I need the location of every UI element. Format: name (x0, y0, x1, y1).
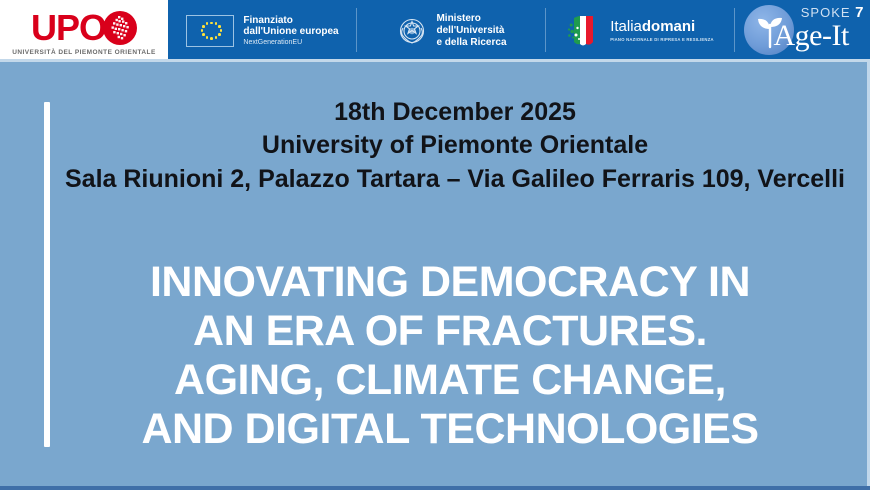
upo-letters: UPO (31, 11, 106, 45)
eu-line-2: dall'Unione europea (243, 26, 338, 38)
event-venue: Sala Riunioni 2, Palazzo Tartara – Via G… (60, 163, 850, 196)
eu-line-3: NextGenerationEU (243, 39, 338, 47)
ministry-line-2: dell'Università (436, 25, 506, 37)
ministry-line-3: e della Ricerca (436, 37, 506, 49)
event-institution: University of Piemonte Orientale (60, 129, 850, 162)
ministry-line-1: Ministero (436, 13, 506, 25)
ageit-spoke-number: 7 (855, 4, 864, 21)
upo-logo: UPO (0, 0, 168, 62)
italiadomani-word-thin: Italia (610, 18, 642, 35)
presentation-slide: UPO (0, 0, 870, 490)
upo-logomark: UPO (31, 9, 137, 47)
italian-republic-emblem-icon (396, 13, 428, 49)
ageit-logo: SPOKE 7 Age-It (735, 0, 870, 62)
title-line-4: AND DIGITAL TECHNOLOGIES (55, 405, 845, 454)
eu-line-1: Finanziato (243, 15, 338, 27)
title-line-2: AN ERA OF FRACTURES. (55, 307, 845, 356)
piemonte-region-icon (110, 16, 132, 40)
italiadomani-logo: Italiadomani PIANO NAZIONALE DI RIPRESA … (546, 0, 735, 62)
title-line-3: AGING, CLIMATE CHANGE, (55, 356, 845, 405)
eu-flag-icon (186, 15, 234, 47)
event-info: 18th December 2025 University of Piemont… (60, 96, 850, 196)
upo-circle-icon (103, 11, 137, 45)
event-date: 18th December 2025 (60, 96, 850, 129)
sponsor-logo-bar: UPO (0, 0, 870, 62)
italiadomani-word-bold: domani (642, 18, 695, 35)
ageit-wordmark: Age-It (774, 21, 849, 51)
upo-subtitle: UNIVERSITÀ DEL PIEMONTE ORIENTALE (12, 49, 156, 56)
italy-flag-icon (567, 14, 603, 48)
event-title: INNOVATING DEMOCRACY IN AN ERA OF FRACTU… (55, 258, 845, 454)
title-line-1: INNOVATING DEMOCRACY IN (55, 258, 845, 307)
ministry-logo: Ministero dell'Università e della Ricerc… (357, 0, 546, 62)
vertical-accent-bar (44, 102, 50, 447)
italiadomani-wordmark: Italiadomani (610, 19, 714, 36)
italiadomani-tagline: PIANO NAZIONALE DI RIPRESA E RESILIENZA (610, 38, 714, 43)
eu-funding-logo: Finanziato dall'Unione europea NextGener… (168, 0, 357, 62)
